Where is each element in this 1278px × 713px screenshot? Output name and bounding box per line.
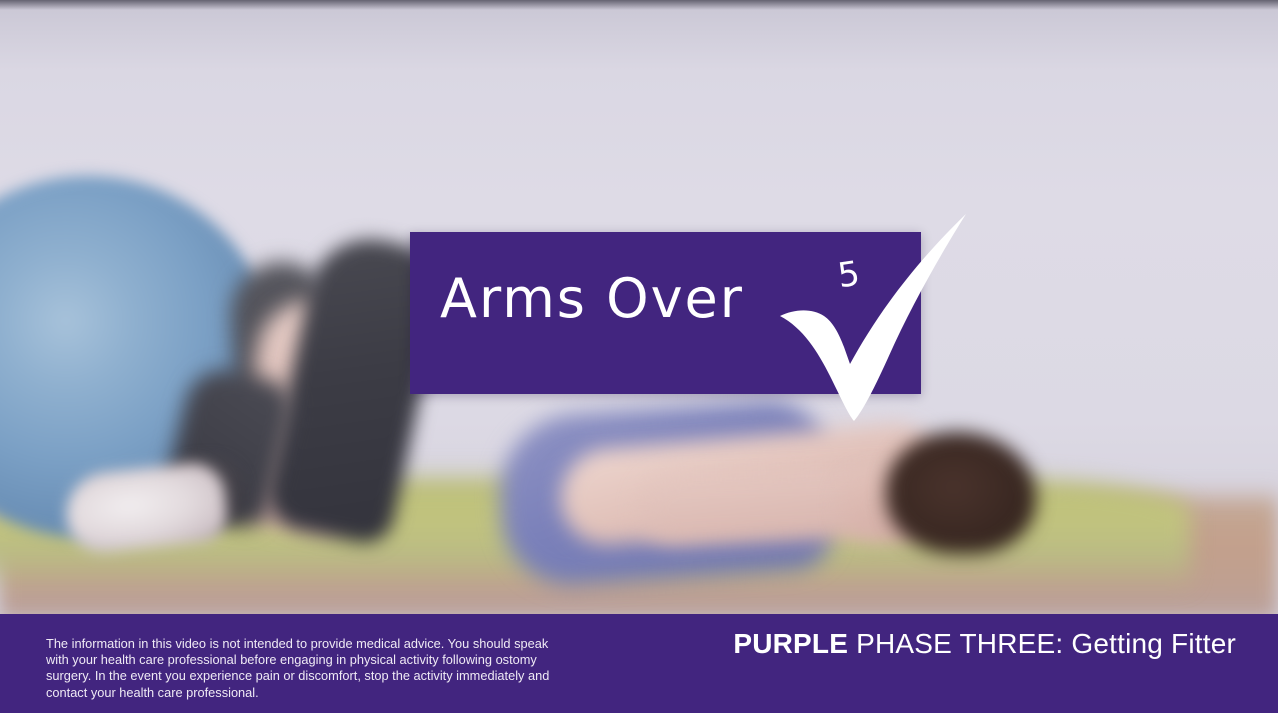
rep-count-label: 5: [836, 257, 862, 294]
brand-phase-label: PHASE THREE: Getting Fitter: [848, 628, 1236, 659]
exercise-name-label: Arms Over: [440, 272, 744, 326]
medical-disclaimer-text: The information in this video is not int…: [46, 636, 574, 701]
top-letterbox-strip: [0, 0, 1278, 10]
check-mark-icon: [770, 212, 980, 427]
video-frame: Arms Over 5 The information in this vide…: [0, 0, 1278, 713]
program-branding: PURPLE PHASE THREE: Getting Fitter: [733, 628, 1236, 660]
brand-name-label: PURPLE: [733, 628, 848, 659]
